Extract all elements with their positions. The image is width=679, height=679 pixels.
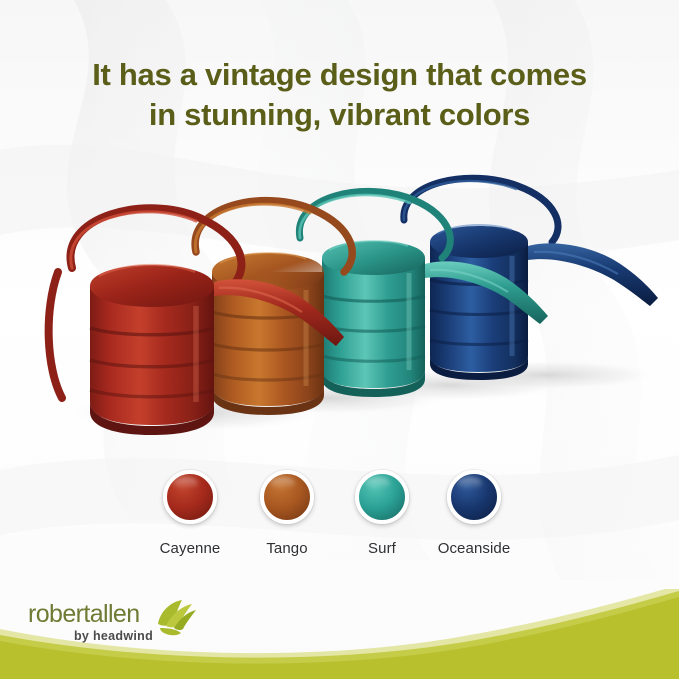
swatch-disc-oceanside[interactable]: [447, 470, 501, 524]
swatch-cayenne[interactable]: Cayenne: [135, 470, 245, 557]
brand-logo: robertallen by headwind: [26, 596, 206, 646]
swatch-disc-cayenne[interactable]: [163, 470, 217, 524]
headline-line-1: It has a vintage design that comes: [92, 57, 587, 92]
oceanside-watering-can: [404, 178, 658, 380]
swatch-label-oceanside: Oceanside: [419, 540, 529, 557]
brand-tagline: by headwind: [74, 629, 153, 643]
swatch-disc-surf[interactable]: [355, 470, 409, 524]
swatch-oceanside[interactable]: Oceanside: [419, 470, 529, 557]
product-marketing-image: It has a vintage design that comes in st…: [0, 0, 679, 679]
brand-name: robertallen: [28, 600, 140, 628]
headline: It has a vintage design that comes in st…: [0, 55, 679, 134]
swatch-tango[interactable]: Tango: [232, 470, 342, 557]
swatch-label-cayenne: Cayenne: [135, 540, 245, 557]
headline-line-2: in stunning, vibrant colors: [0, 95, 679, 135]
leaf-icon: [158, 600, 196, 635]
watering-cans-photo: [0, 160, 679, 460]
swatch-label-tango: Tango: [232, 540, 342, 557]
swatch-disc-tango[interactable]: [260, 470, 314, 524]
